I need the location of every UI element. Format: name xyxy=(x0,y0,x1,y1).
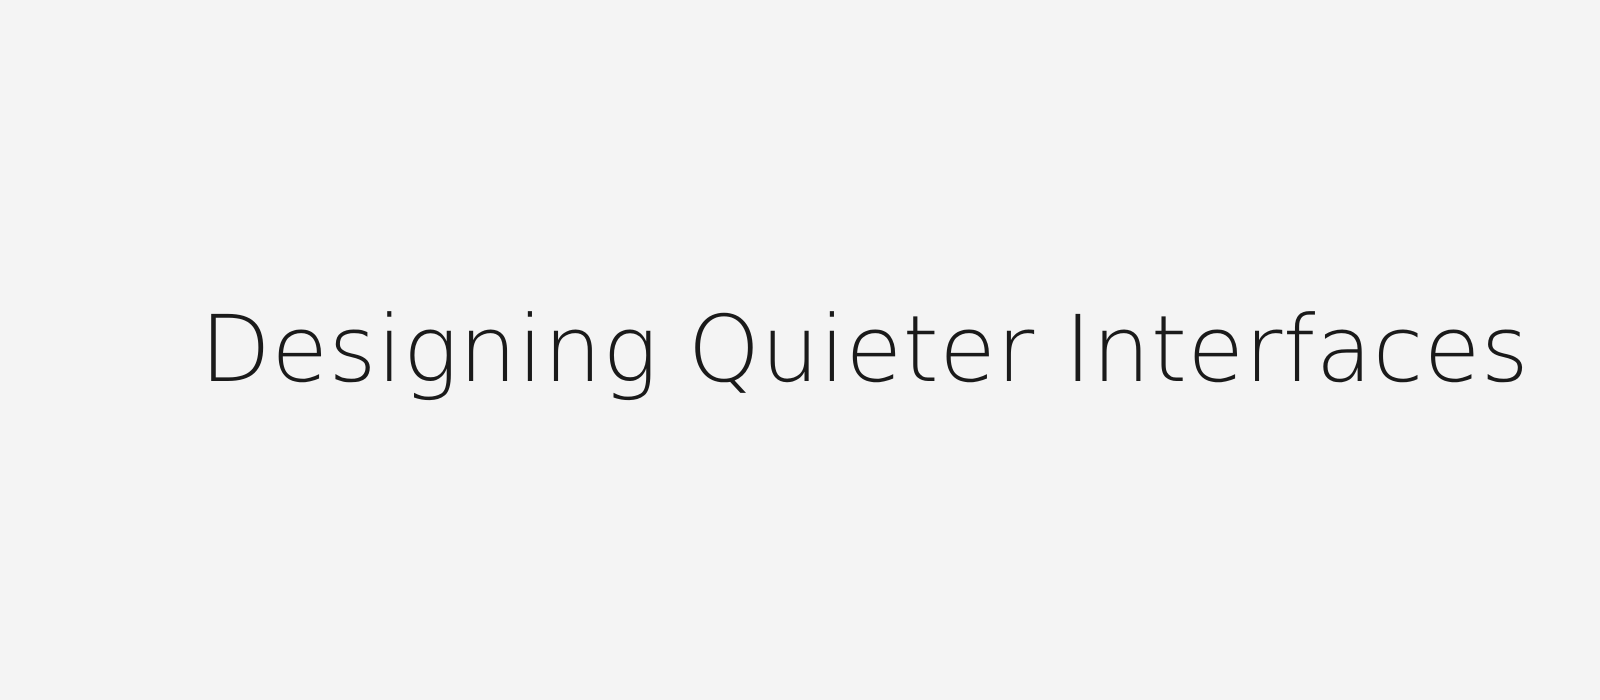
page-title: Designing Quieter Interfaces xyxy=(200,304,1529,396)
title-card: Designing Quieter Interfaces xyxy=(0,0,1600,700)
